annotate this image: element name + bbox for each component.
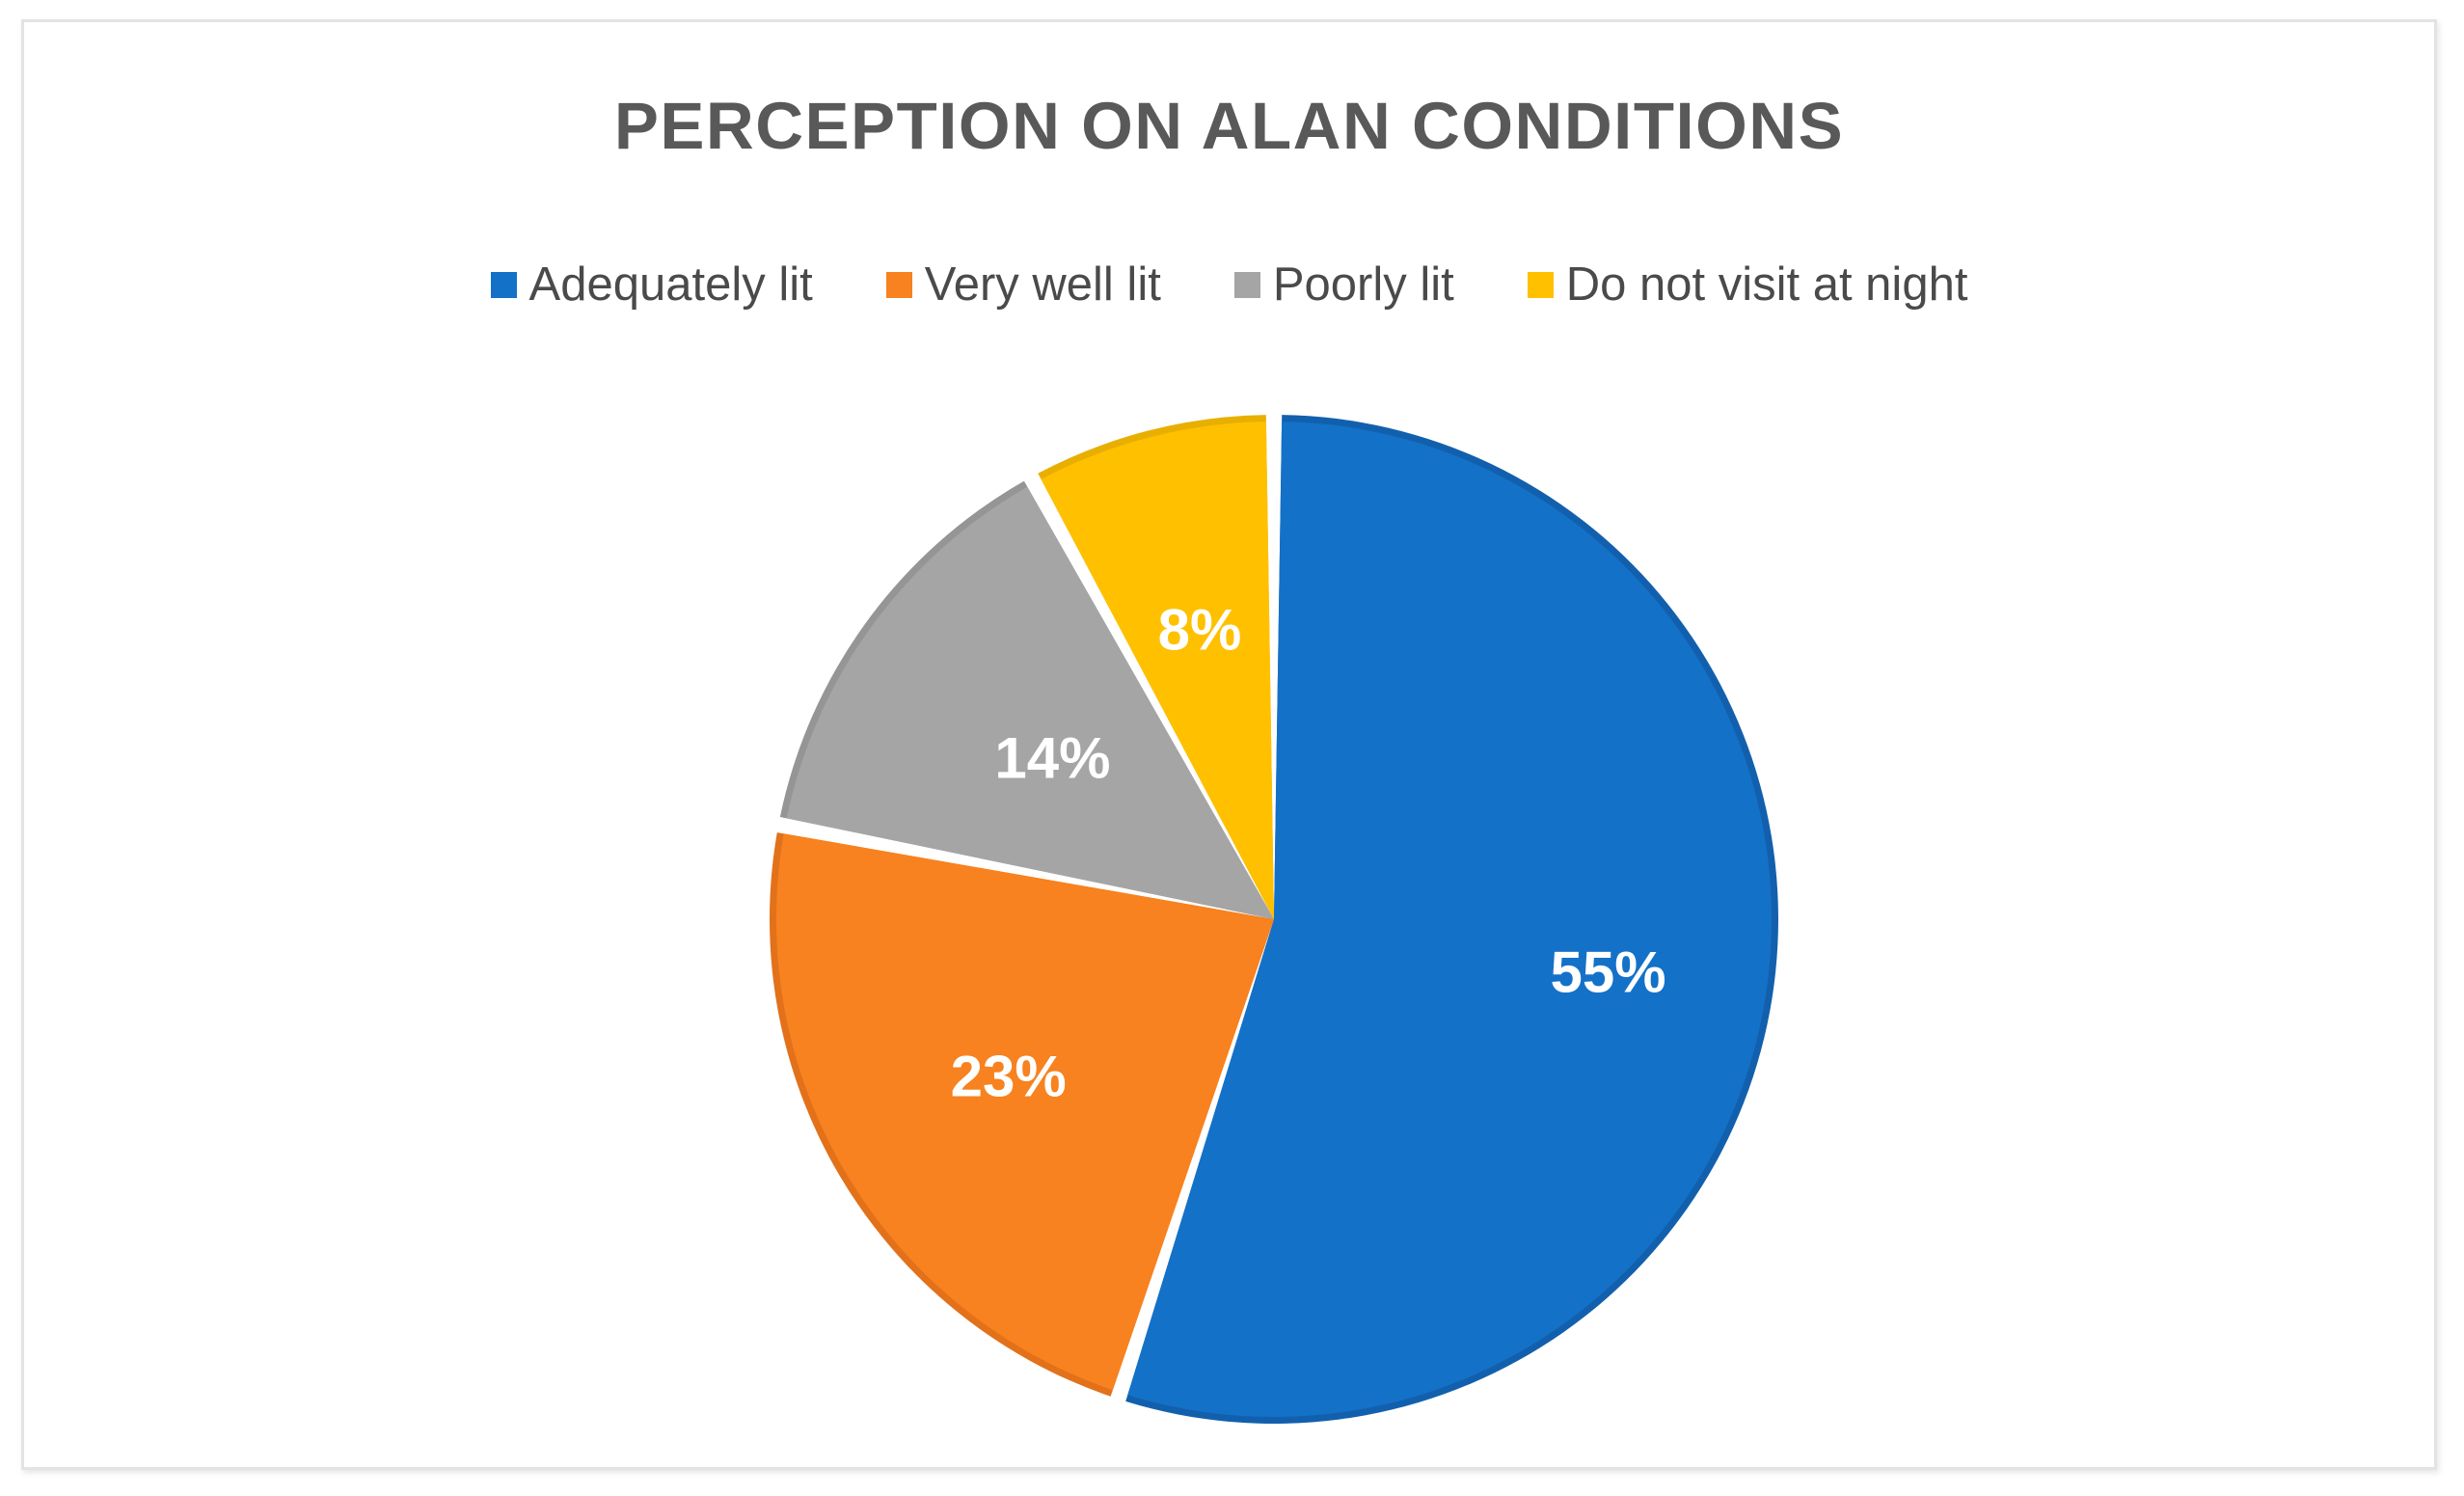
legend-item-label: Do not visit at night xyxy=(1566,261,1968,309)
legend-item-label: Adequately lit xyxy=(529,261,813,309)
pie-slice-very-well-lit[interactable] xyxy=(776,833,1274,1390)
legend-item-very-well-lit[interactable]: Very well lit xyxy=(886,261,1161,309)
chart-title: PERCEPTION ON ALAN CONDITIONS xyxy=(24,88,2434,164)
pie-slice-value-label: 8% xyxy=(1158,598,1242,663)
pie-slice-value-label: 55% xyxy=(1551,939,1666,1004)
pie-slice-value-label: 23% xyxy=(951,1044,1067,1108)
legend-item-poorly-lit[interactable]: Poorly lit xyxy=(1234,261,1454,309)
chart-legend: Adequately lit Very well lit Poorly lit … xyxy=(24,261,2434,309)
pie-slice-poorly-lit[interactable] xyxy=(787,487,1274,919)
pie-slice-group xyxy=(770,415,1778,1424)
pie-slice-value-label: 14% xyxy=(994,726,1110,791)
pie-slice-do-not-visit-at-night[interactable] xyxy=(1042,422,1274,919)
legend-item-adequately-lit[interactable]: Adequately lit xyxy=(491,261,813,309)
pie-slice-rim xyxy=(770,832,1274,1397)
legend-item-label: Very well lit xyxy=(925,261,1161,309)
legend-swatch-icon xyxy=(1234,272,1260,298)
pie-slice-adequately-lit[interactable] xyxy=(1127,422,1772,1417)
pie-slice-rim xyxy=(1038,415,1274,919)
legend-swatch-icon xyxy=(491,272,517,298)
legend-item-do-not-visit-at-night[interactable]: Do not visit at night xyxy=(1528,261,1968,309)
legend-swatch-icon xyxy=(1528,272,1554,298)
chart-frame: PERCEPTION ON ALAN CONDITIONS Adequately… xyxy=(21,19,2437,1470)
legend-swatch-icon xyxy=(886,272,912,298)
legend-item-label: Poorly lit xyxy=(1273,261,1454,309)
pie-slice-rim xyxy=(1125,415,1778,1424)
pie-chart-plot-area: 55%23%14%8% xyxy=(24,22,2434,1467)
pie-label-group: 55%23%14%8% xyxy=(951,598,1666,1109)
pie-slice-rim xyxy=(780,481,1274,919)
pie-chart-svg: 55%23%14%8% xyxy=(743,381,1803,1452)
